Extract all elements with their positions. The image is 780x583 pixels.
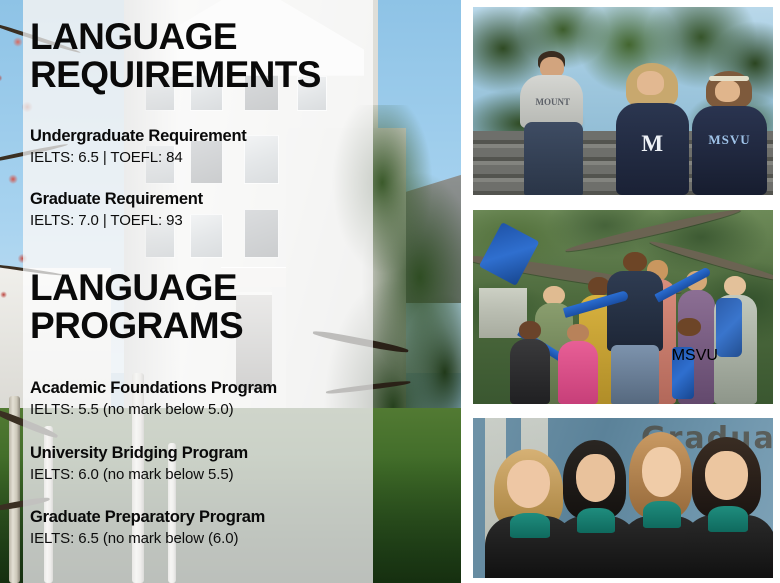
headband xyxy=(709,76,750,81)
graduate-requirement-detail: IELTS: 7.0 | TOEFL: 93 xyxy=(30,212,183,229)
face xyxy=(623,252,647,272)
face xyxy=(507,460,551,508)
slide-root: LANGUAGE REQUIREMENTS Undergraduate Requ… xyxy=(0,0,780,583)
page-title-programs: LANGUAGE PROGRAMS xyxy=(30,269,243,346)
photo-students-steps: MOUNT M MSVU xyxy=(473,7,773,195)
page-title-requirements: LANGUAGE REQUIREMENTS xyxy=(30,18,321,95)
face xyxy=(724,276,747,296)
graduate-requirement-title: Graduate Requirement xyxy=(30,190,203,209)
top xyxy=(510,339,550,404)
t-shirt xyxy=(607,271,662,352)
academic-foundations-program-title: Academic Foundations Program xyxy=(30,379,277,398)
hoodie-letter: M xyxy=(636,132,669,155)
photo-graduates: Graduate xyxy=(473,418,773,578)
photo1-student-right: MSVU xyxy=(692,71,767,195)
graduate-preparatory-program-detail: IELTS: 6.5 (no mark below (6.0) xyxy=(30,530,238,547)
hood xyxy=(643,501,680,527)
graduate-preparatory-program-title: Graduate Preparatory Program xyxy=(30,508,265,527)
hood xyxy=(510,513,551,537)
face xyxy=(705,451,749,500)
undergraduate-requirement-detail: IELTS: 6.5 | TOEFL: 84 xyxy=(30,149,183,166)
face xyxy=(642,447,681,497)
face xyxy=(677,318,700,336)
face xyxy=(567,324,589,342)
jeans xyxy=(524,122,583,195)
sweatshirt-logo: MOUNT xyxy=(529,98,576,107)
photo2-student-front: MSVU xyxy=(665,315,713,404)
university-bridging-program-title: University Bridging Program xyxy=(30,444,248,463)
crewneck xyxy=(692,106,767,195)
photo2-student-centre xyxy=(605,249,665,404)
undergraduate-requirement-title: Undergraduate Requirement xyxy=(30,127,247,146)
face xyxy=(519,321,541,340)
crewneck-logo: MSVU xyxy=(701,133,758,146)
academic-foundations-program-detail: IELTS: 5.5 (no mark below 5.0) xyxy=(30,401,233,418)
hood xyxy=(708,506,749,532)
photo2-student xyxy=(713,272,758,404)
jeans xyxy=(611,345,659,404)
photo2-student-front xyxy=(557,323,599,404)
spirit-scarf: MSVU xyxy=(672,347,694,399)
photo2-student-front xyxy=(509,319,551,404)
face xyxy=(715,80,741,102)
graduate xyxy=(689,434,767,578)
text-block: LANGUAGE REQUIREMENTS Undergraduate Requ… xyxy=(30,0,375,583)
university-bridging-program-detail: IELTS: 6.0 (no mark below 5.5) xyxy=(30,466,233,483)
top xyxy=(558,341,598,404)
hood xyxy=(577,508,614,533)
face xyxy=(576,454,615,502)
photo1-student-centre: M xyxy=(614,63,692,195)
face xyxy=(637,71,664,95)
photo-intl-group: MSVU xyxy=(473,210,773,404)
spirit-scarf xyxy=(716,298,742,356)
photo1-student-left: MOUNT xyxy=(515,48,605,195)
